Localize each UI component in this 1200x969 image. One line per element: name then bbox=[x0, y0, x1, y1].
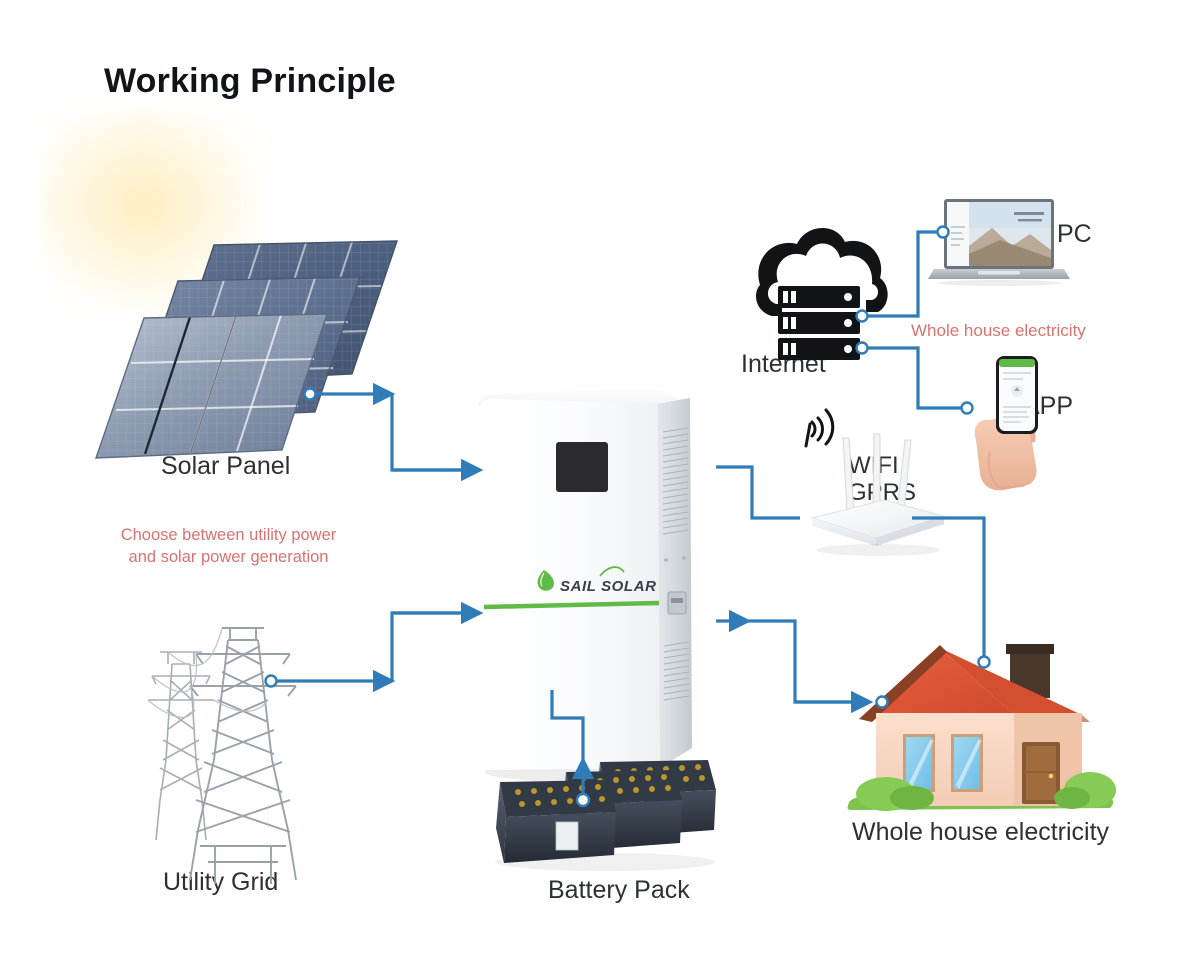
wire-grid-to-inverter bbox=[266, 613, 481, 687]
wire-internet-to-pc bbox=[857, 227, 949, 322]
wire-router-to-house bbox=[912, 518, 990, 668]
wire-inverter-to-battery bbox=[552, 690, 589, 806]
wire-inverter-to-router bbox=[716, 467, 800, 518]
inverter-brand-label: SAIL SOLAR bbox=[560, 578, 657, 595]
connector-wires bbox=[0, 0, 1200, 969]
wire-internet-to-app bbox=[857, 343, 973, 414]
wire-inverter-to-house bbox=[716, 621, 888, 708]
working-principle-diagram: Working Principle Solar Panel Utility Gr… bbox=[0, 0, 1200, 969]
wire-solar-to-inverter bbox=[305, 389, 481, 471]
